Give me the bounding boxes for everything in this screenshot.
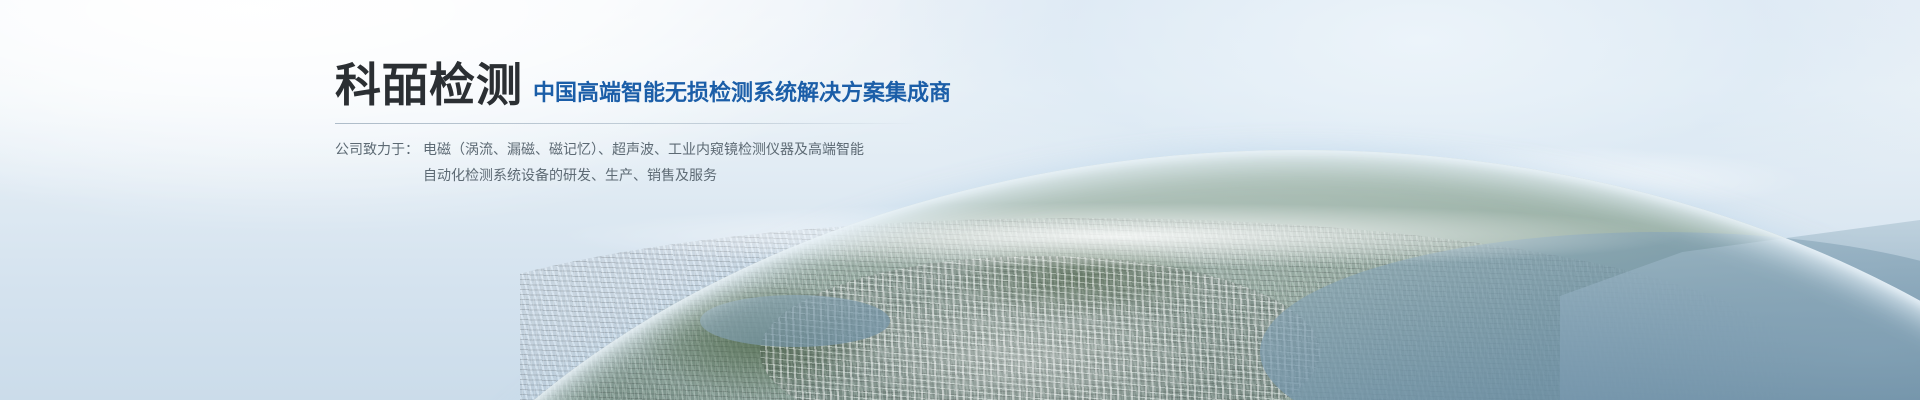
title-row: 科皕检测 中国高端智能无损检测系统解决方案集成商	[335, 62, 1235, 108]
description-label: 公司致力于：	[335, 137, 423, 163]
city-texture	[520, 218, 1920, 400]
description-line-1: 电磁（涡流、漏磁、磁记忆）、超声波、工业内窥镜检测仪器及高端智能	[423, 137, 864, 163]
park-area-left	[600, 250, 930, 400]
description-line-2: 自动化检测系统设备的研发、生产、销售及服务	[423, 163, 864, 189]
cloud-wisp	[1150, 120, 1910, 240]
open-water	[1560, 200, 1920, 400]
title-divider	[335, 123, 919, 124]
aerial-cityscape-image	[0, 0, 1920, 400]
harbour-water	[1230, 232, 1920, 400]
brand-tagline: 中国高端智能无损检测系统解决方案集成商	[533, 83, 951, 108]
hero-banner: 科皕检测 中国高端智能无损检测系统解决方案集成商 公司致力于： 电磁（涡流、漏磁…	[0, 0, 1920, 400]
description-body: 电磁（涡流、漏磁、磁记忆）、超声波、工业内窥镜检测仪器及高端智能 自动化检测系统…	[423, 137, 864, 189]
horizon-glow	[420, 196, 1920, 266]
park-area-right	[900, 214, 1260, 334]
company-description: 公司致力于： 电磁（涡流、漏磁、磁记忆）、超声波、工业内窥镜检测仪器及高端智能 …	[335, 137, 1235, 189]
downtown-highrise-cluster	[760, 248, 1320, 400]
brand-name: 科皕检测	[335, 62, 523, 108]
water-inlet	[700, 286, 890, 356]
banner-content: 科皕检测 中国高端智能无损检测系统解决方案集成商 公司致力于： 电磁（涡流、漏磁…	[335, 62, 1235, 189]
